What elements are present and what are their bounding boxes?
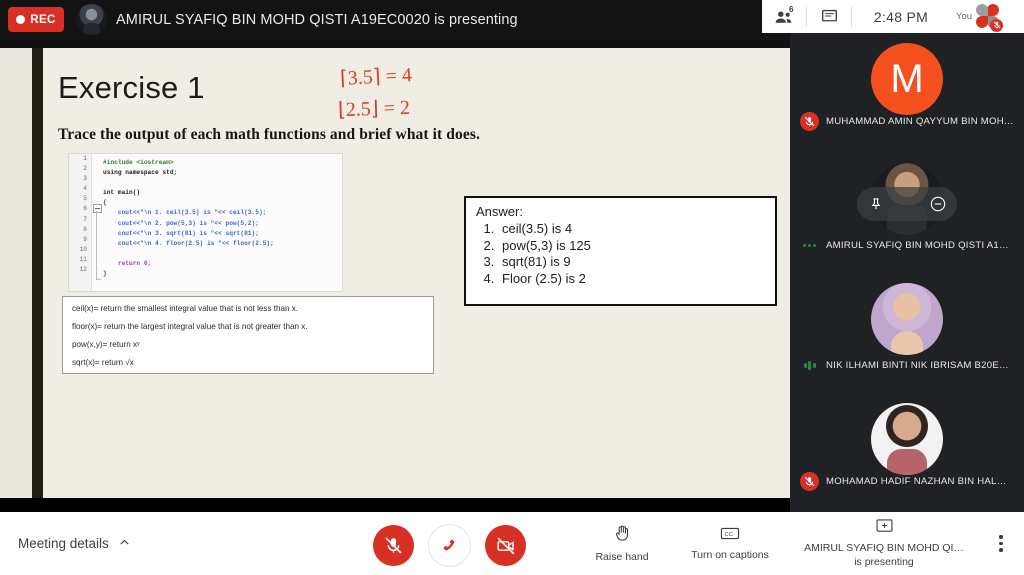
participant-name-row: MOHAMAD HADIF NAZHAN BIN HALM…: [790, 472, 1024, 491]
slide-accent-stripe: [32, 48, 43, 498]
captions-label: Turn on captions: [691, 549, 769, 562]
bottom-control-bar: Meeting details: [0, 512, 1024, 575]
avatar: [871, 403, 943, 475]
recording-indicator: REC: [8, 7, 64, 32]
slide-subtitle: Trace the output of each math functions …: [58, 126, 480, 144]
line-number: 10: [69, 245, 91, 255]
avatar: [976, 4, 1002, 30]
slide-content: Exercise 1 Trace the output of each math…: [0, 48, 790, 498]
code-line: return 0;: [103, 259, 340, 269]
avatar-initial: M: [890, 57, 923, 102]
presentation-stage[interactable]: Exercise 1 Trace the output of each math…: [0, 40, 790, 512]
list-item: ceil(3.5) is 4: [498, 221, 765, 238]
line-number: 4: [69, 184, 91, 194]
remove-icon[interactable]: [925, 191, 951, 217]
present-screen-icon: [875, 518, 894, 538]
code-line: cout<<"\n 1. ceil(3.5) is "<< ceil(3.5);: [103, 208, 340, 218]
code-gutter: 1 2 3 4 5 6 7 8 9 10 11 12: [69, 154, 92, 291]
collapse-icon[interactable]: [93, 204, 102, 213]
code-snippet: 1 2 3 4 5 6 7 8 9 10 11 12: [68, 153, 343, 292]
participant-name: NIK ILHAMI BINTI NIK IBRISAM B20EC3…: [826, 360, 1014, 371]
participant-rail: M MUHAMMAD AMIN QAYYUM BIN MOH…: [790, 33, 1024, 512]
list-item: pow(5,3) is 125: [498, 238, 765, 255]
clock: 2:48 PM: [852, 9, 950, 25]
line-number: 11: [69, 255, 91, 265]
line-number: 2: [69, 164, 91, 174]
code-line: cout<<"\n 4. floor(2.5) is "<< floor(2.5…: [103, 239, 340, 249]
participant-tile[interactable]: M MUHAMMAD AMIN QAYYUM BIN MOH…: [790, 33, 1024, 153]
definition-ceil: ceil(x)= return the smallest integral va…: [72, 304, 424, 314]
participant-name: MOHAMAD HADIF NAZHAN BIN HALM…: [826, 476, 1014, 487]
raise-hand-label: Raise hand: [595, 551, 648, 564]
people-icon[interactable]: 6: [762, 0, 806, 33]
answer-list: ceil(3.5) is 4 pow(5,3) is 125 sqrt(81) …: [476, 221, 765, 287]
more-options-button[interactable]: [984, 512, 1018, 575]
participant-tile[interactable]: NIK ILHAMI BINTI NIK IBRISAM B20EC3…: [790, 273, 1024, 393]
definition-floor: floor(x)= return the largest integral va…: [72, 322, 424, 332]
hand-icon: [613, 524, 632, 547]
meeting-details-label: Meeting details: [18, 536, 109, 551]
code-line: {: [103, 198, 340, 208]
code-line: using namespace std;: [103, 168, 340, 178]
pin-icon[interactable]: [863, 191, 889, 217]
turn-off-camera-button[interactable]: [485, 525, 526, 566]
avatar: M: [871, 43, 943, 115]
answer-heading: Answer:: [476, 204, 765, 219]
answer-box: Answer: ceil(3.5) is 4 pow(5,3) is 125 s…: [464, 196, 777, 306]
participant-count: 6: [789, 5, 793, 14]
definition-pow: pow(x,y)= return xʸ: [72, 340, 424, 350]
line-number: 5: [69, 194, 91, 204]
top-right-panel: 6 2:48 PM You: [762, 0, 1024, 33]
presenting-status: is presenting: [854, 556, 914, 569]
list-item: sqrt(81) is 9: [498, 254, 765, 271]
call-controls: [373, 524, 526, 567]
presenter-thumbnail: [76, 4, 107, 35]
right-controls: Raise hand CC Turn on captions: [568, 512, 1018, 575]
participant-name-row: NIK ILHAMI BINTI NIK IBRISAM B20EC3…: [790, 360, 1024, 371]
code-line: cout<<"\n 2. pow(5,3) is "<< pow(5,2);: [103, 219, 340, 229]
annotation-floor: ⌊2.5⌋ = 2: [338, 95, 411, 122]
recording-label: REC: [30, 14, 55, 26]
speaking-indicator-icon: [800, 244, 819, 247]
presenting-name: AMIRUL SYAFIQ BIN MOHD QI…: [804, 542, 964, 555]
participant-tile[interactable]: AMIRUL SYAFIQ BIN MOHD QISTI A19E…: [790, 153, 1024, 273]
list-item: Floor (2.5) is 2: [498, 271, 765, 288]
code-line: [103, 249, 340, 259]
code-line: cout<<"\n 3. sqrt(81) is "<< sqrt(81);: [103, 229, 340, 239]
participant-name: AMIRUL SYAFIQ BIN MOHD QISTI A19E…: [826, 240, 1014, 251]
stage-bottom-edge: [0, 498, 790, 512]
fold-guide: [96, 211, 97, 280]
hang-up-button[interactable]: [428, 524, 471, 567]
fold-end: [96, 279, 101, 280]
svg-text:CC: CC: [725, 532, 733, 538]
closed-captions-icon: CC: [720, 526, 740, 545]
participant-name-row: AMIRUL SYAFIQ BIN MOHD QISTI A19E…: [790, 240, 1024, 251]
code-line: int main(): [103, 188, 340, 198]
you-label: You: [956, 11, 972, 22]
code-fold-region[interactable]: [93, 158, 103, 292]
line-number: 7: [69, 215, 91, 225]
mic-off-icon: [800, 112, 819, 131]
meet-window: REC AMIRUL SYAFIQ BIN MOHD QISTI A19EC00…: [0, 0, 1024, 575]
present-now-button[interactable]: AMIRUL SYAFIQ BIN MOHD QI… is presenting: [784, 512, 984, 575]
line-number: 3: [69, 174, 91, 184]
line-number: 1: [69, 154, 91, 164]
code-line: }: [103, 269, 340, 279]
avatar: [871, 283, 943, 355]
code-line: [103, 178, 340, 188]
code-line: #include <iostream>: [103, 158, 340, 168]
raise-hand-button[interactable]: Raise hand: [568, 512, 676, 575]
you-avatar-area[interactable]: You: [950, 0, 1024, 33]
mic-off-icon: [990, 19, 1003, 32]
record-dot-icon: [16, 15, 25, 24]
presenting-banner: AMIRUL SYAFIQ BIN MOHD QISTI A19EC0020 i…: [116, 0, 518, 40]
slide-left-margin: [0, 48, 32, 498]
chevron-up-icon[interactable]: [118, 536, 131, 552]
mute-mic-button[interactable]: [373, 525, 414, 566]
tile-hover-overlay[interactable]: [857, 187, 957, 221]
speaking-level-icon: [800, 361, 819, 370]
code-lines: #include <iostream> using namespace std;…: [103, 158, 340, 279]
meeting-details-button[interactable]: Meeting details: [18, 512, 131, 575]
line-number: 8: [69, 225, 91, 235]
annotation-ceiling: ⌈3.5⌉ = 4: [339, 62, 412, 91]
definition-sqrt: sqrt(x)= return √x: [72, 358, 424, 368]
participant-name-row: MUHAMMAD AMIN QAYYUM BIN MOH…: [790, 112, 1024, 131]
definitions-box: ceil(x)= return the smallest integral va…: [62, 296, 434, 374]
mic-off-icon: [800, 472, 819, 491]
chat-icon[interactable]: [807, 0, 851, 33]
page-title: Exercise 1: [58, 70, 205, 106]
line-number: 6: [69, 204, 91, 214]
line-number: 9: [69, 235, 91, 245]
participant-tile[interactable]: MOHAMAD HADIF NAZHAN BIN HALM…: [790, 393, 1024, 513]
participant-name: MUHAMMAD AMIN QAYYUM BIN MOH…: [826, 116, 1014, 127]
line-number: 12: [69, 265, 91, 275]
captions-button[interactable]: CC Turn on captions: [676, 512, 784, 575]
